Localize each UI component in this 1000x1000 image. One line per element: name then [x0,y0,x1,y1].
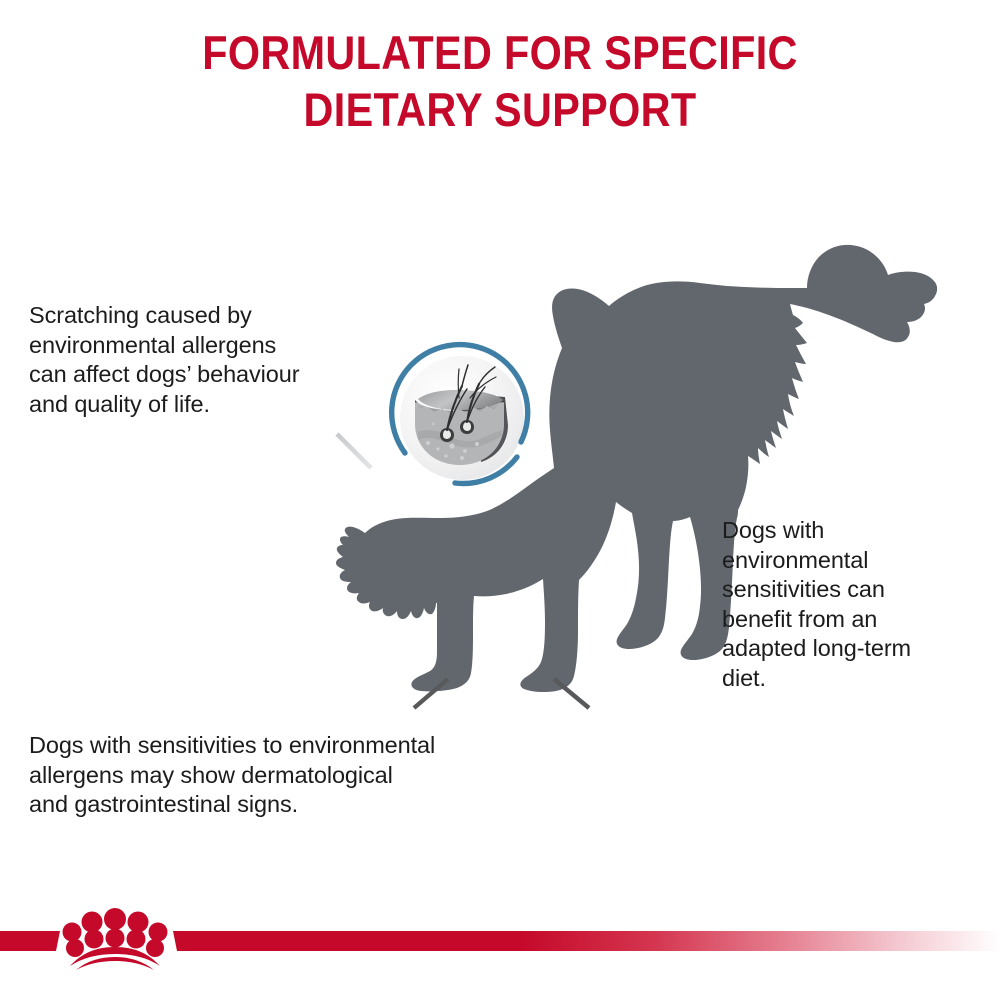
leader-line-top-left [30,434,371,468]
callout-line: allergens may show dermatological [29,761,435,791]
callout-line: diet. [722,664,911,694]
callout-line: sensitivities can [722,575,911,605]
callout-line: environmental allergens [29,331,299,361]
page-title-line-2: DIETARY SUPPORT [113,81,887,138]
callout-line: and quality of life. [29,390,299,420]
page-title: FORMULATED FOR SPECIFIC DIETARY SUPPORT [113,24,887,138]
skin-cross-section-illustration [415,365,508,465]
callout-text-dermatological-signs: Dogs with sensitivities to environmental… [29,731,435,820]
illustration-layer [0,0,1000,1000]
callout-line: Dogs with sensitivities to environmental [29,731,435,761]
leader-line-bottom [30,679,448,708]
callout-line: Scratching caused by [29,301,299,331]
skin-callout-circle [388,343,532,487]
callout-line: and gastrointestinal signs. [29,790,435,820]
callout-line: Dogs with [722,516,911,546]
infographic-canvas: FORMULATED FOR SPECIFIC DIETARY SUPPORT [0,0,1000,1000]
page-title-line-1: FORMULATED FOR SPECIFIC [113,24,887,81]
callout-line: benefit from an [722,605,911,635]
callout-line: adapted long-term [722,634,911,664]
callout-text-scratching: Scratching caused by environmental aller… [29,301,299,419]
callout-line: environmental [722,546,911,576]
royal-canin-crown-logo [62,908,168,970]
blue-accent-ring [392,345,528,484]
callout-line: can affect dogs’ behaviour [29,360,299,390]
callout-text-adapted-diet: Dogs with environmental sensitivities ca… [722,516,911,693]
